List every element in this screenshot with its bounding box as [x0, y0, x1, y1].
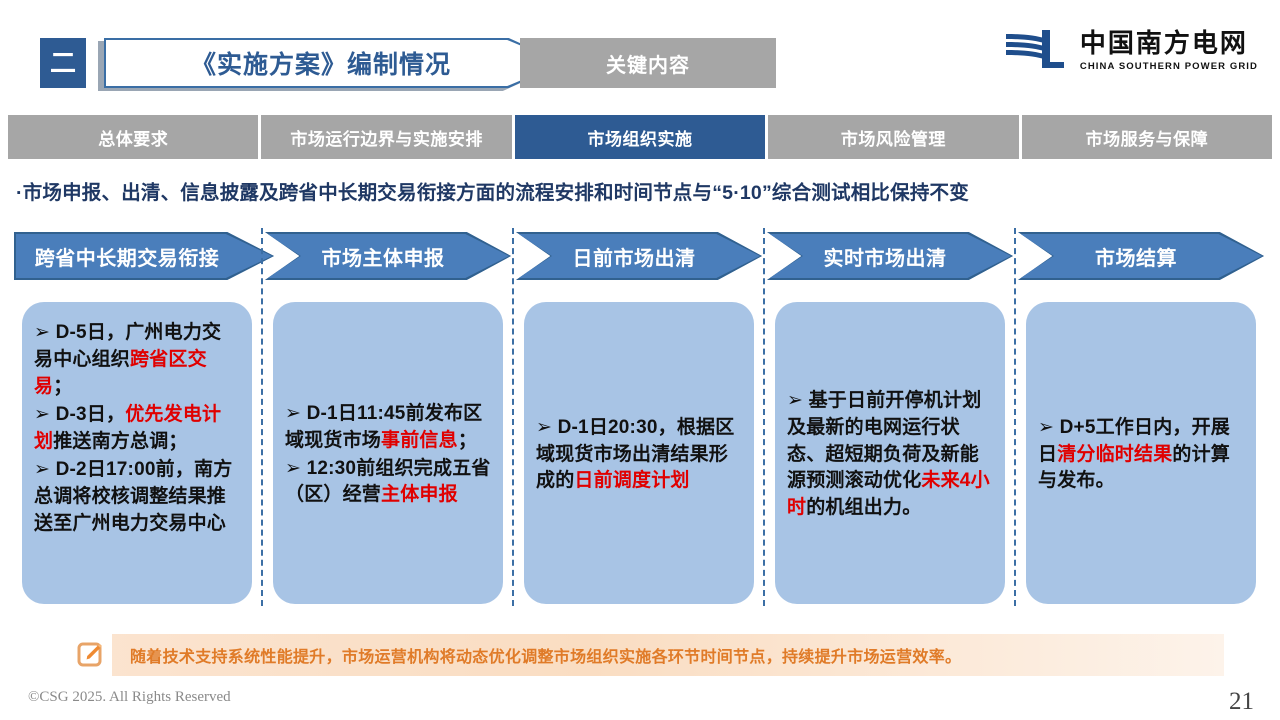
section-number-badge: 二	[40, 38, 86, 88]
flow-card-3: ➢ D-1日20:30，根据区域现货市场出清结果形成的日前调度计划	[524, 302, 754, 604]
tab-market-risk[interactable]: 市场风险管理	[768, 115, 1018, 159]
csg-logo-mark	[1004, 28, 1070, 74]
flow-card-1-body: ➢ D-5日，广州电力交易中心组织跨省区交易；➢ D-3日，优先发电计划推送南方…	[34, 320, 240, 538]
page-number: 21	[1229, 688, 1254, 716]
card-paragraph: ➢ D-3日，优先发电计划推送南方总调；	[34, 402, 240, 456]
flow-card-2: ➢ D-1日11:45前发布区域现货市场事前信息；➢ 12:30前组织完成五省（…	[273, 302, 503, 604]
flow-header-3-label: 日前市场出清	[555, 242, 724, 271]
process-flow-columns: 跨省中长期交易衔接 ➢ D-5日，广州电力交易中心组织跨省区交易；➢ D-3日，…	[14, 232, 1266, 604]
flow-card-1: ➢ D-5日，广州电力交易中心组织跨省区交易；➢ D-3日，优先发电计划推送南方…	[22, 302, 252, 604]
section-tab-bar[interactable]: 总体要求 市场运行边界与实施安排 市场组织实施 市场风险管理 市场服务与保障	[8, 115, 1272, 159]
flow-column-2: 市场主体申报 ➢ D-1日11:45前发布区域现货市场事前信息；➢ 12:30前…	[265, 232, 510, 604]
flow-header-4-label: 实时市场出清	[806, 242, 975, 271]
column-divider-4	[1014, 228, 1016, 606]
flow-header-3[interactable]: 日前市场出清	[516, 232, 762, 280]
card-paragraph: ➢ 12:30前组织完成五省（区）经营主体申报	[285, 456, 491, 510]
column-divider-3	[763, 228, 765, 606]
edit-pencil-icon	[70, 634, 112, 676]
footer-note-text: 随着技术支持系统性能提升，市场运营机构将动态优化调整市场组织实施各环节时间节点，…	[130, 643, 961, 667]
footer-note-banner: 随着技术支持系统性能提升，市场运营机构将动态优化调整市场组织实施各环节时间节点，…	[74, 634, 1224, 676]
flow-header-1[interactable]: 跨省中长期交易衔接	[14, 232, 274, 280]
flow-column-3: 日前市场出清 ➢ D-1日20:30，根据区域现货市场出清结果形成的日前调度计划	[516, 232, 761, 604]
flow-header-2-label: 市场主体申报	[304, 242, 473, 271]
slide-header: 二 《实施方案》编制情况 关键内容 中国南方电网 CHINA SOUTHERN …	[0, 0, 1280, 108]
flow-header-5-label: 市场结算	[1077, 242, 1205, 271]
tab-market-service[interactable]: 市场服务与保障	[1022, 115, 1272, 159]
flow-card-5-body: ➢ D+5工作日内，开展日清分临时结果的计算与发布。	[1038, 415, 1244, 496]
tab-market-organization[interactable]: 市场组织实施	[515, 115, 765, 159]
card-paragraph: ➢ D-1日20:30，根据区域现货市场出清结果形成的日前调度计划	[536, 415, 742, 496]
column-divider-2	[512, 228, 514, 606]
tab-overall-requirements[interactable]: 总体要求	[8, 115, 258, 159]
flow-card-3-body: ➢ D-1日20:30，根据区域现货市场出清结果形成的日前调度计划	[536, 415, 742, 496]
logo-chinese-name: 中国南方电网	[1080, 30, 1248, 57]
flow-card-2-body: ➢ D-1日11:45前发布区域现货市场事前信息；➢ 12:30前组织完成五省（…	[285, 401, 491, 510]
logo-english-name: CHINA SOUTHERN POWER GRID	[1080, 61, 1258, 72]
subtitle-label: 关键内容	[606, 49, 690, 78]
logo-text-block: 中国南方电网 CHINA SOUTHERN POWER GRID	[1080, 30, 1258, 71]
flow-column-1: 跨省中长期交易衔接 ➢ D-5日，广州电力交易中心组织跨省区交易；➢ D-3日，…	[14, 232, 259, 604]
card-paragraph: ➢ D+5工作日内，开展日清分临时结果的计算与发布。	[1038, 415, 1244, 496]
subtitle-chip: 关键内容	[520, 38, 776, 88]
flow-card-4: ➢ 基于日前开停机计划及最新的电网运行状态、超短期负荷及新能源预测滚动优化未来4…	[775, 302, 1005, 604]
flow-card-4-body: ➢ 基于日前开停机计划及最新的电网运行状态、超短期负荷及新能源预测滚动优化未来4…	[787, 388, 993, 523]
flow-header-1-label: 跨省中长期交易衔接	[35, 242, 254, 271]
headline-text: ·市场申报、出清、信息披露及跨省中长期交易衔接方面的流程安排和时间节点与“5·1…	[16, 176, 1264, 205]
card-paragraph: ➢ 基于日前开停机计划及最新的电网运行状态、超短期负荷及新能源预测滚动优化未来4…	[787, 388, 993, 523]
flow-column-5: 市场结算 ➢ D+5工作日内，开展日清分临时结果的计算与发布。	[1018, 232, 1263, 604]
flow-column-4: 实时市场出清 ➢ 基于日前开停机计划及最新的电网运行状态、超短期负荷及新能源预测…	[767, 232, 1012, 604]
card-paragraph: ➢ D-1日11:45前发布区域现货市场事前信息；	[285, 401, 491, 455]
card-paragraph: ➢ D-2日17:00前，南方总调将校核调整结果推送至广州电力交易中心	[34, 457, 240, 538]
tab-market-boundary[interactable]: 市场运行边界与实施安排	[261, 115, 511, 159]
flow-card-5: ➢ D+5工作日内，开展日清分临时结果的计算与发布。	[1026, 302, 1256, 604]
page-title: 《实施方案》编制情况	[191, 45, 477, 81]
flow-header-5[interactable]: 市场结算	[1018, 232, 1264, 280]
card-paragraph: ➢ D-5日，广州电力交易中心组织跨省区交易；	[34, 320, 240, 401]
copyright-text: ©CSG 2025. All Rights Reserved	[28, 689, 231, 706]
flow-header-2[interactable]: 市场主体申报	[265, 232, 511, 280]
column-divider-1	[261, 228, 263, 606]
company-logo: 中国南方电网 CHINA SOUTHERN POWER GRID	[1004, 28, 1258, 74]
title-chevron-face: 《实施方案》编制情况	[106, 40, 562, 86]
flow-header-4[interactable]: 实时市场出清	[767, 232, 1013, 280]
